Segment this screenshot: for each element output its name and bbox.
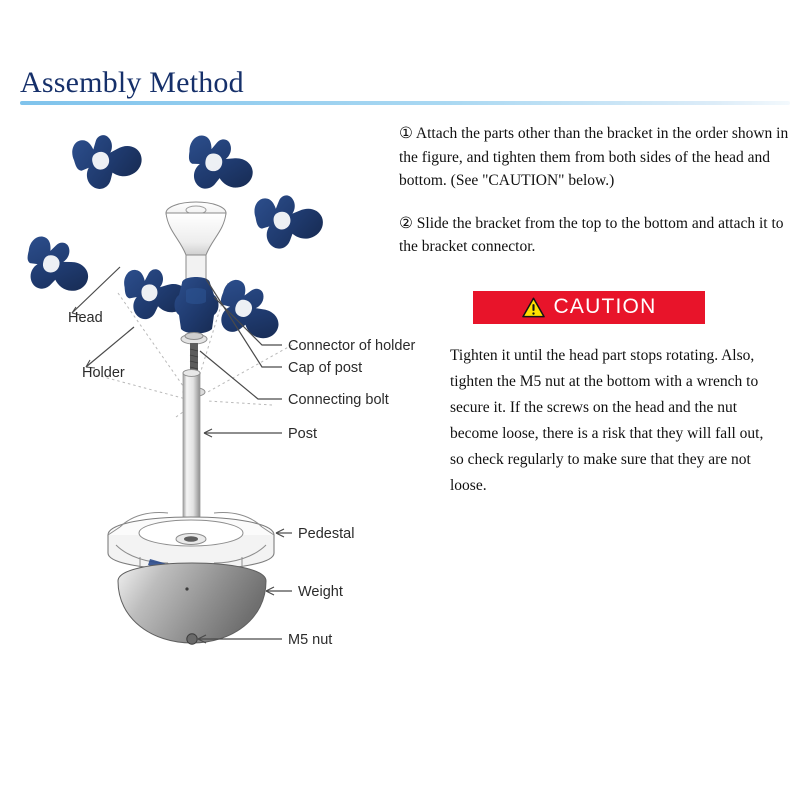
head-part: [166, 202, 226, 281]
weight-part: [118, 563, 266, 643]
label-connector-of-holder: Connector of holder: [288, 338, 416, 354]
label-weight: Weight: [298, 584, 343, 600]
instruction-step-1: ① Attach the parts other than the bracke…: [399, 122, 797, 193]
holder-part: [20, 234, 95, 299]
label-connecting-bolt: Connecting bolt: [288, 392, 389, 408]
label-pedestal: Pedestal: [298, 526, 354, 542]
label-m5-nut: M5 nut: [288, 632, 332, 648]
connector-of-holder-part: [175, 277, 219, 334]
page-title: Assembly Method: [20, 66, 244, 100]
holder-part: [184, 134, 257, 195]
caution-banner-label: CAUTION: [554, 296, 657, 317]
m5-nut-part: [187, 634, 197, 644]
caution-body-text: Tighten it until the head part stops rot…: [450, 343, 770, 499]
label-post: Post: [288, 426, 317, 442]
assembly-exploded-diagram: Head Holder Connector of holder Cap of p…: [0, 115, 420, 675]
title-underline-rule: [20, 101, 790, 105]
label-holder: Holder: [82, 365, 125, 381]
assembly-method-page: Assembly Method ① Attach the parts other…: [0, 0, 800, 800]
holder-part-group: [20, 126, 326, 348]
instruction-step-2: ② Slide the bracket from the top to the …: [399, 212, 797, 259]
caution-banner: CAUTION: [473, 291, 705, 324]
holder-part: [69, 126, 147, 194]
label-head: Head: [68, 310, 103, 326]
instruction-list: ① Attach the parts other than the bracke…: [399, 122, 797, 278]
label-cap-of-post: Cap of post: [288, 360, 362, 376]
post-part: [183, 370, 200, 541]
warning-triangle-icon: [522, 297, 545, 318]
holder-part: [252, 189, 326, 252]
holder-part: [210, 276, 289, 348]
